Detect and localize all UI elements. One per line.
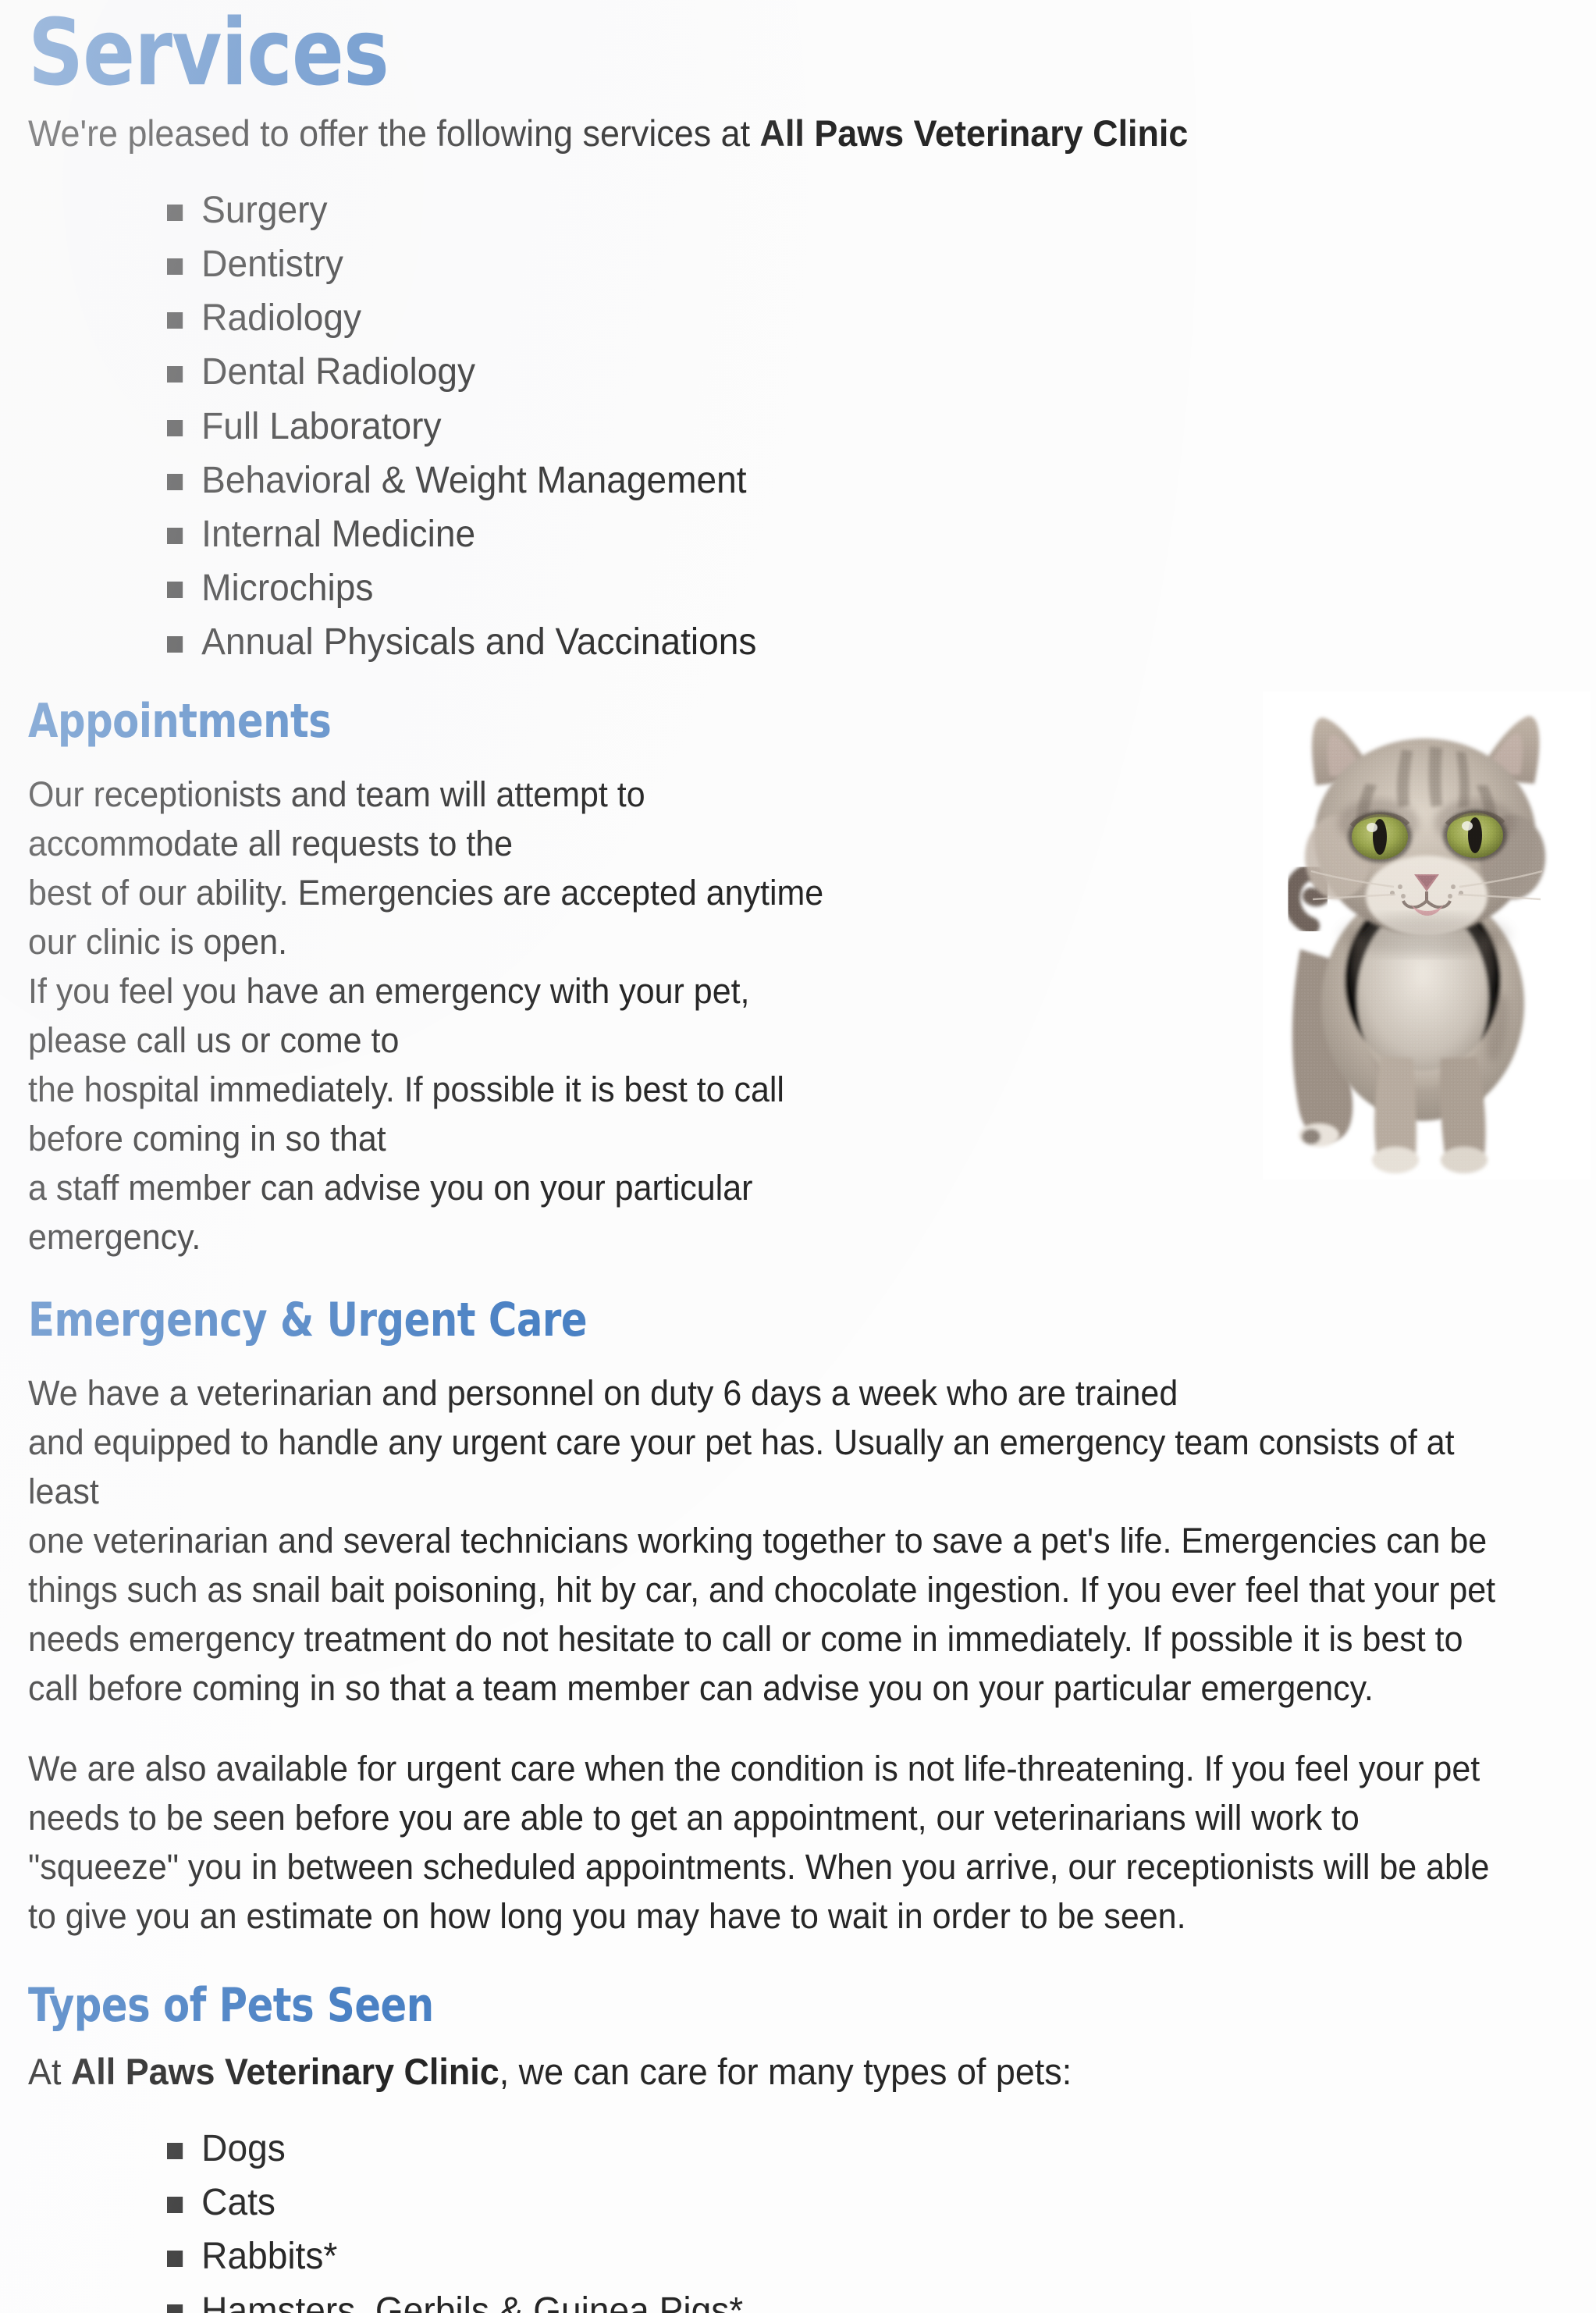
- square-bullet-icon: [167, 366, 183, 383]
- list-item: Dental Radiology: [167, 345, 1511, 399]
- list-item: Dogs: [167, 2122, 1511, 2176]
- pets-intro-after: , we can care for many types of pets:: [499, 2051, 1072, 2092]
- text-line: If you feel you have an emergency with y…: [28, 966, 830, 1065]
- square-bullet-icon: [167, 420, 183, 436]
- square-bullet-icon: [167, 2143, 183, 2159]
- list-item-label: Behavioral & Weight Management: [201, 460, 746, 501]
- text-line: the hospital immediately. If possible it…: [28, 1065, 830, 1163]
- text-line: Our receptionists and team will attempt …: [28, 770, 830, 868]
- list-item: Hamsters, Gerbils & Guinea Pigs*: [167, 2284, 1511, 2313]
- list-item: Rabbits*: [167, 2229, 1511, 2283]
- list-item: Full Laboratory: [167, 400, 1511, 454]
- list-item-label: Cats: [201, 2182, 275, 2223]
- list-item-label: Dentistry: [201, 244, 343, 285]
- list-item-label: Internal Medicine: [201, 514, 475, 555]
- list-item: Internal Medicine: [167, 507, 1511, 561]
- square-bullet-icon: [167, 528, 183, 544]
- list-item: Behavioral & Weight Management: [167, 454, 1511, 507]
- list-item-label: Annual Physicals and Vaccinations: [201, 621, 756, 663]
- list-item-label: Full Laboratory: [201, 406, 441, 447]
- list-item-label: Surgery: [201, 190, 327, 231]
- text-line: a staff member can advise you on your pa…: [28, 1163, 830, 1261]
- square-bullet-icon: [167, 474, 183, 490]
- square-bullet-icon: [167, 636, 183, 653]
- square-bullet-icon: [167, 312, 183, 329]
- list-item: Surgery: [167, 183, 1511, 237]
- section-heading-emergency-urgent-care: Emergency & Urgent Care: [28, 1296, 1444, 1345]
- text-line: "squeeze" you in between scheduled appoi…: [28, 1842, 1498, 1891]
- services-intro: We're pleased to offer the following ser…: [28, 109, 1498, 157]
- appointments-paragraph: Our receptionists and team will attempt …: [28, 770, 830, 1261]
- list-item: Annual Physicals and Vaccinations: [167, 615, 1511, 669]
- square-bullet-icon: [167, 2251, 183, 2267]
- section-heading-types-of-pets-seen: Types of Pets Seen: [28, 1981, 1444, 2030]
- list-item-label: Microchips: [201, 568, 373, 609]
- pets-intro-before: At: [28, 2051, 71, 2092]
- text-line: to give you an estimate on how long you …: [28, 1891, 1498, 1941]
- list-item: Cats: [167, 2176, 1511, 2229]
- text-line: needs to be seen before you are able to …: [28, 1793, 1498, 1842]
- list-item-label: Dogs: [201, 2128, 286, 2169]
- square-bullet-icon: [167, 2197, 183, 2213]
- text-line: We are also available for urgent care wh…: [28, 1744, 1498, 1793]
- text-line: things such as snail bait poisoning, hit…: [28, 1565, 1498, 1614]
- list-item-label: Dental Radiology: [201, 351, 475, 393]
- clinic-name-inline: All Paws Veterinary Clinic: [71, 2051, 499, 2092]
- emergency-paragraph-2: We are also available for urgent care wh…: [28, 1744, 1498, 1941]
- pets-intro: At All Paws Veterinary Clinic, we can ca…: [28, 2048, 1498, 2095]
- text-line: one veterinarian and several technicians…: [28, 1516, 1498, 1565]
- list-item-label: Hamsters, Gerbils & Guinea Pigs*: [201, 2290, 743, 2313]
- list-item: Microchips: [167, 561, 1511, 615]
- page-title: Services: [28, 0, 1459, 98]
- square-bullet-icon: [167, 582, 183, 598]
- text-line: We have a veterinarian and personnel on …: [28, 1368, 1498, 1418]
- section-heading-appointments: Appointments: [28, 697, 1444, 746]
- text-line: call before coming in so that a team mem…: [28, 1664, 1498, 1713]
- scanned-document-page: Services We're pleased to offer the foll…: [0, 0, 1596, 2313]
- document-content: Services We're pleased to offer the foll…: [28, 0, 1567, 2313]
- square-bullet-icon: [167, 258, 183, 275]
- emergency-paragraph-1: We have a veterinarian and personnel on …: [28, 1368, 1498, 1713]
- list-item-label: Rabbits*: [201, 2236, 337, 2277]
- square-bullet-icon: [167, 2304, 183, 2313]
- text-line: and equipped to handle any urgent care y…: [28, 1418, 1498, 1516]
- square-bullet-icon: [167, 205, 183, 221]
- clinic-name-inline: All Paws Veterinary Clinic: [760, 112, 1189, 154]
- list-item: Dentistry: [167, 237, 1511, 291]
- text-line: best of our ability. Emergencies are acc…: [28, 868, 830, 966]
- services-list: Surgery Dentistry Radiology Dental Radio…: [28, 183, 1567, 669]
- text-line: needs emergency treatment do not hesitat…: [28, 1614, 1498, 1664]
- services-intro-text: We're pleased to offer the following ser…: [28, 112, 760, 154]
- pets-list: Dogs Cats Rabbits* Hamsters, Gerbils & G…: [28, 2122, 1567, 2313]
- list-item-label: Radiology: [201, 297, 361, 339]
- list-item: Radiology: [167, 291, 1511, 345]
